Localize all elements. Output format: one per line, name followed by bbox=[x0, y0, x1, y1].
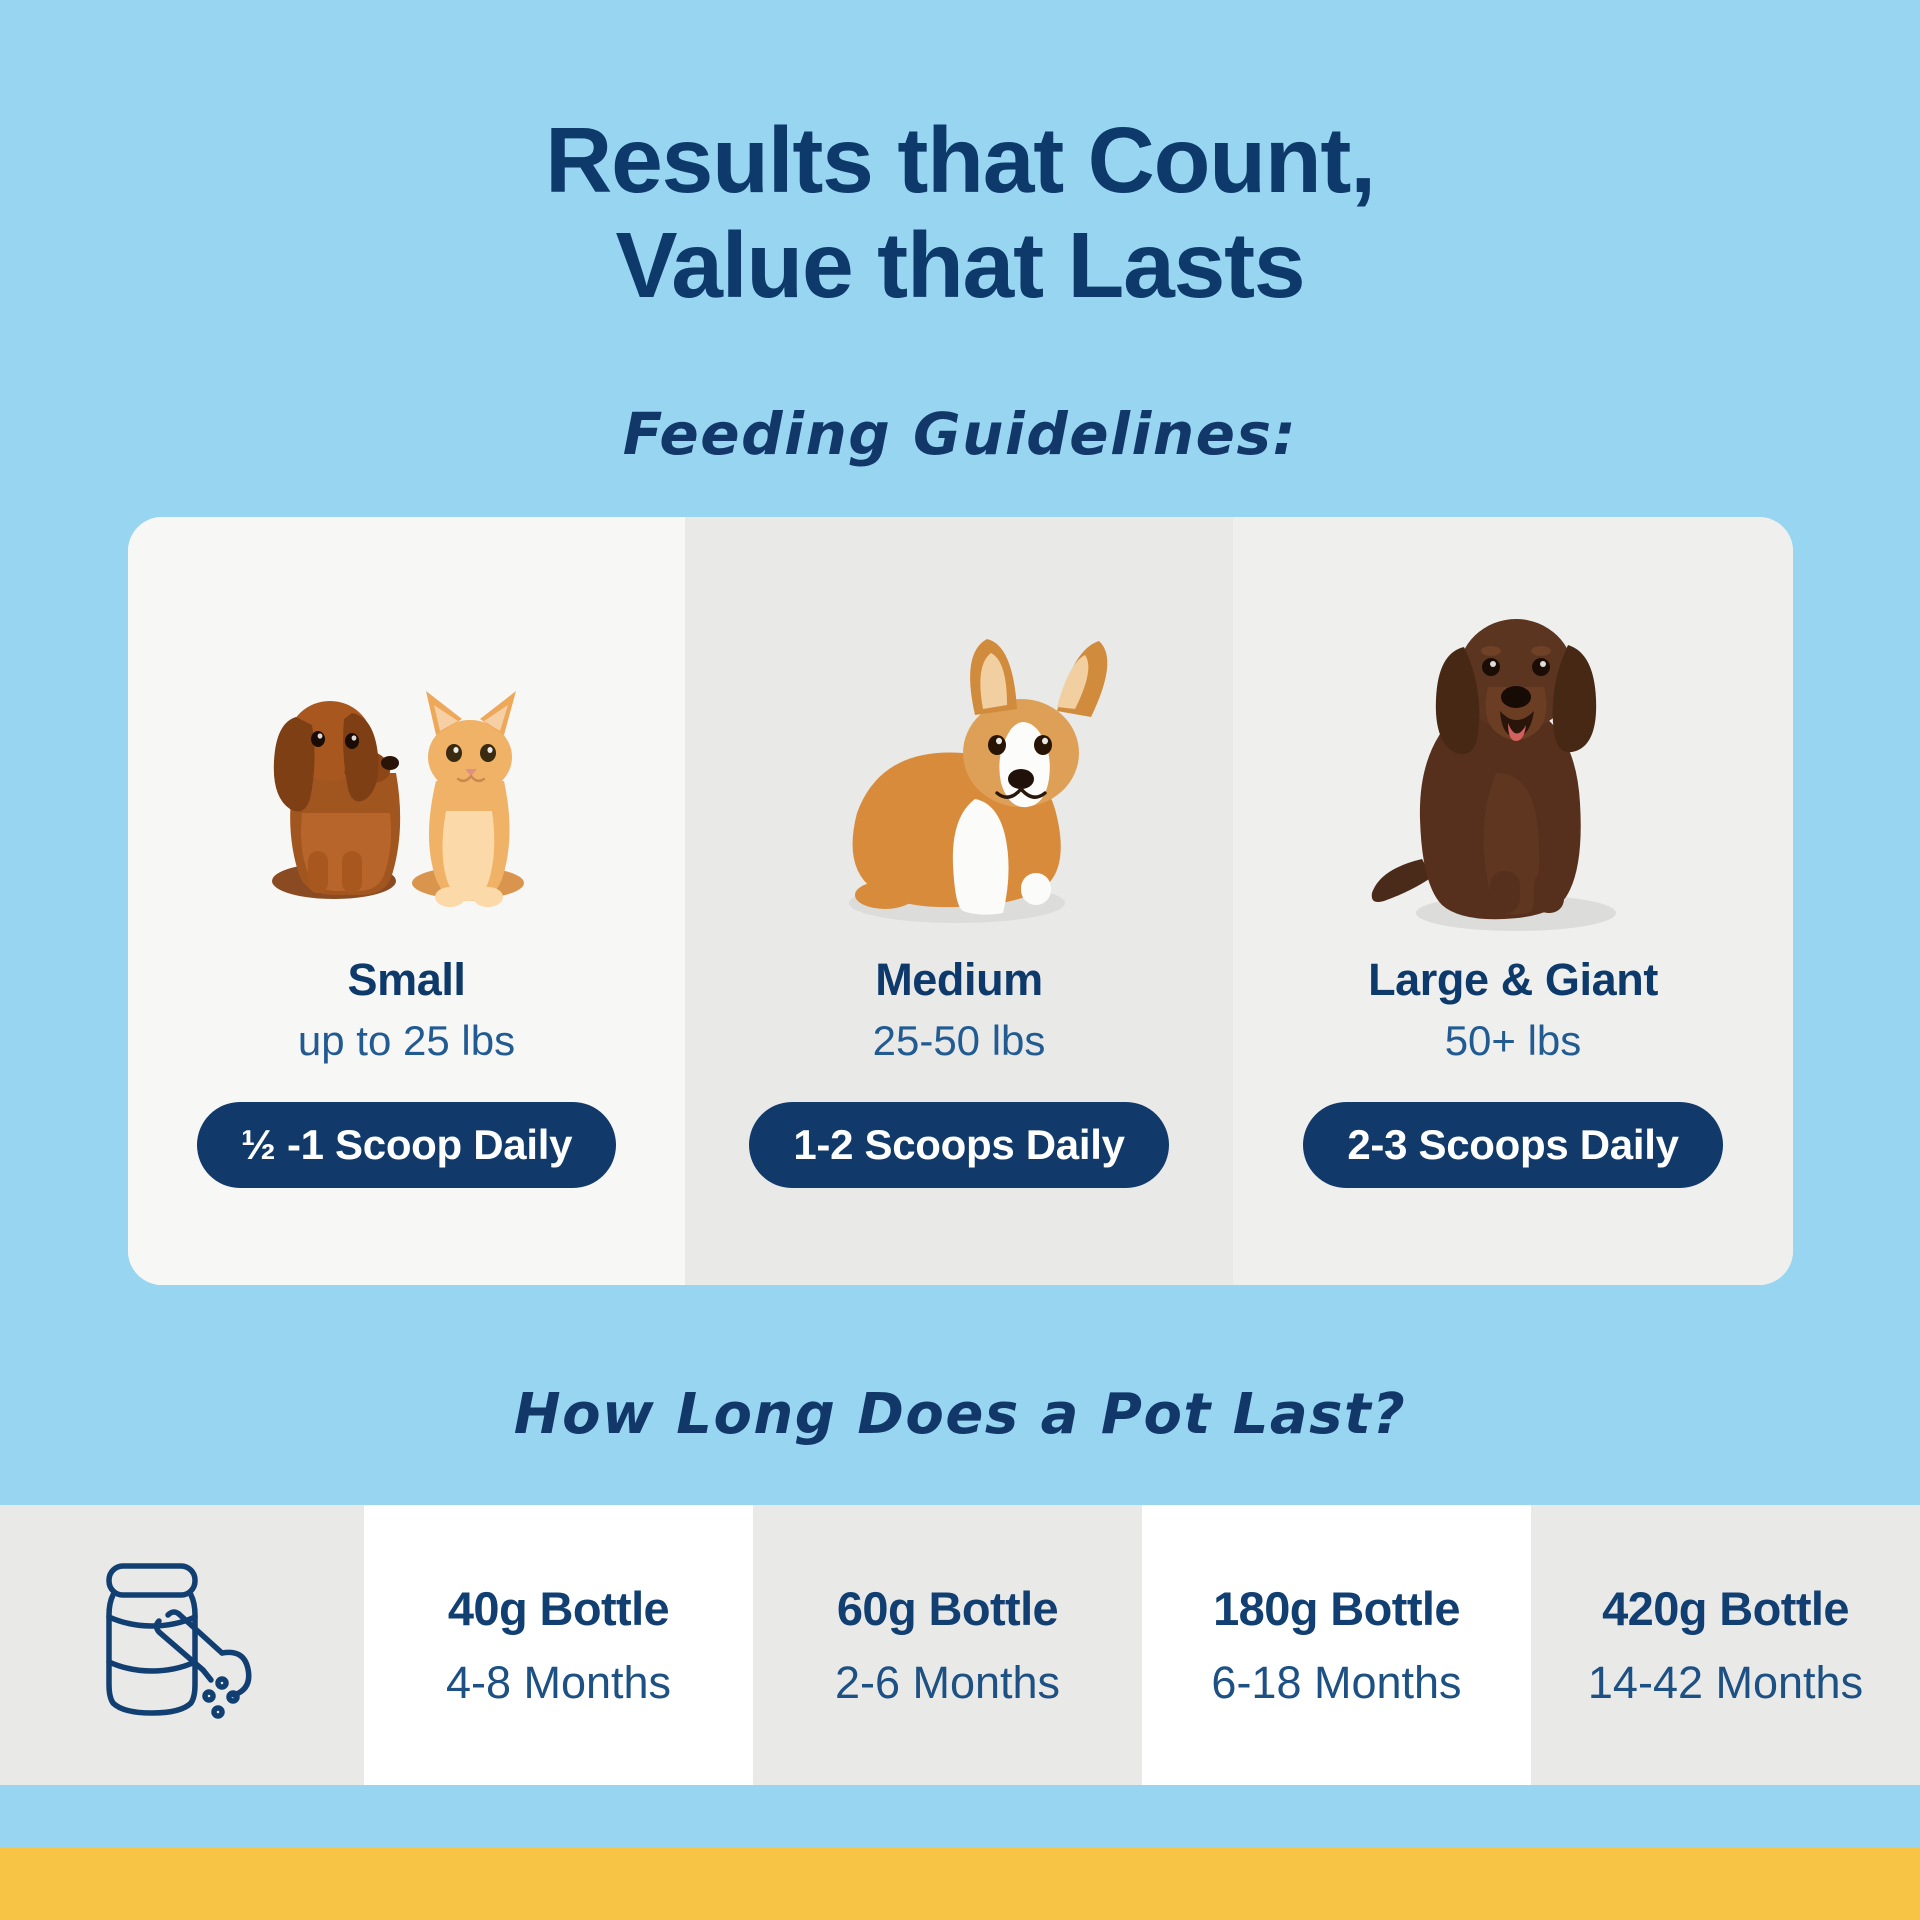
page-title-line-2: Value that Lasts bbox=[0, 213, 1920, 318]
feeding-guidelines-card: Small up to 25 lbs ½ -1 Scoop Daily bbox=[128, 517, 1793, 1285]
bottle-size-420g: 420g Bottle bbox=[1602, 1585, 1849, 1632]
feeding-panel-small: Small up to 25 lbs ½ -1 Scoop Daily bbox=[128, 517, 685, 1285]
dose-pill-medium[interactable]: 1-2 Scoops Daily bbox=[749, 1102, 1168, 1188]
bottle-cell-60g: 60g Bottle 2-6 Months bbox=[753, 1505, 1142, 1785]
dose-pill-large-giant[interactable]: 2-3 Scoops Daily bbox=[1303, 1102, 1722, 1188]
feeding-guidelines-heading: Feeding Guidelines: bbox=[0, 400, 1920, 468]
pot-icon-cell bbox=[0, 1505, 364, 1785]
pet-photo-small-dog-and-cat bbox=[128, 517, 685, 947]
bottle-size-180g: 180g Bottle bbox=[1213, 1585, 1460, 1632]
weight-range-small: up to 25 lbs bbox=[298, 1016, 515, 1066]
size-label-medium: Medium bbox=[875, 957, 1043, 1002]
size-label-large-giant: Large & Giant bbox=[1368, 957, 1658, 1002]
pot-with-scoop-icon bbox=[87, 1555, 277, 1735]
bottle-cell-420g: 420g Bottle 14-42 Months bbox=[1531, 1505, 1920, 1785]
bottom-yellow-band bbox=[0, 1847, 1920, 1920]
page-title: Results that Count, Value that Lasts bbox=[0, 108, 1920, 318]
feeding-panel-large-giant: Large & Giant 50+ lbs 2-3 Scoops Daily bbox=[1233, 517, 1793, 1285]
page-title-line-1: Results that Count, bbox=[545, 108, 1375, 212]
bottle-months-420g: 14-42 Months bbox=[1588, 1660, 1863, 1705]
dose-pill-small[interactable]: ½ -1 Scoop Daily bbox=[197, 1102, 616, 1188]
size-label-small: Small bbox=[347, 957, 465, 1002]
pet-photo-chocolate-labrador bbox=[1233, 517, 1793, 947]
feeding-panel-medium: Medium 25-50 lbs 1-2 Scoops Daily bbox=[685, 517, 1233, 1285]
weight-range-large-giant: 50+ lbs bbox=[1445, 1016, 1582, 1066]
bottom-blue-band bbox=[0, 1785, 1920, 1847]
bottle-duration-strip: 40g Bottle 4-8 Months 60g Bottle 2-6 Mon… bbox=[0, 1505, 1920, 1785]
bottle-cell-40g: 40g Bottle 4-8 Months bbox=[364, 1505, 753, 1785]
bottle-size-40g: 40g Bottle bbox=[448, 1585, 669, 1632]
weight-range-medium: 25-50 lbs bbox=[873, 1016, 1046, 1066]
bottle-cell-180g: 180g Bottle 6-18 Months bbox=[1142, 1505, 1531, 1785]
pot-duration-heading: How Long Does a Pot Last? bbox=[0, 1382, 1920, 1447]
bottle-months-60g: 2-6 Months bbox=[835, 1660, 1060, 1705]
pet-photo-corgi bbox=[685, 517, 1233, 947]
bottle-months-180g: 6-18 Months bbox=[1211, 1660, 1461, 1705]
bottle-size-60g: 60g Bottle bbox=[837, 1585, 1058, 1632]
bottle-months-40g: 4-8 Months bbox=[446, 1660, 671, 1705]
